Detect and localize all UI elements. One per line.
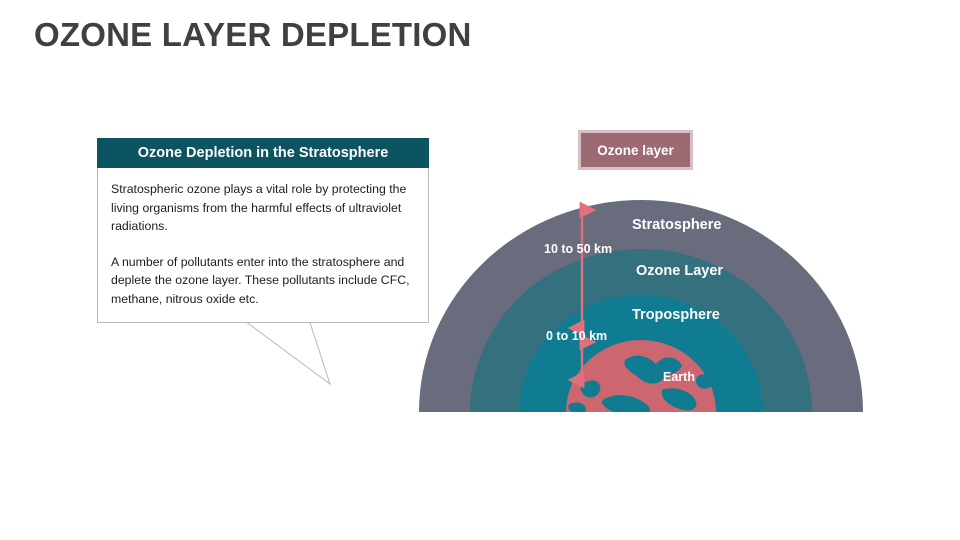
info-callout: Ozone Depletion in the Stratosphere Stra… — [97, 138, 429, 323]
page-title: OZONE LAYER DEPLETION — [34, 16, 472, 54]
label-stratosphere: Stratosphere — [632, 217, 721, 233]
label-0-to-10-km: 0 to 10 km — [546, 329, 607, 343]
slide-canvas: OZONE LAYER DEPLETION Ozone Depletion in… — [0, 0, 960, 540]
label-10-to-50-km: 10 to 50 km — [544, 242, 612, 256]
callout-header: Ozone Depletion in the Stratosphere — [97, 138, 429, 168]
label-troposphere: Troposphere — [632, 307, 720, 323]
ozone-layer-tag[interactable]: Ozone layer — [578, 130, 693, 170]
label-earth: Earth — [663, 370, 695, 384]
callout-paragraph-2: A number of pollutants enter into the st… — [111, 253, 415, 309]
callout-body: Stratospheric ozone plays a vital role b… — [97, 168, 429, 323]
atmosphere-diagram: Stratosphere Ozone Layer Troposphere Ear… — [410, 190, 880, 420]
ozone-layer-tag-label: Ozone layer — [597, 143, 674, 158]
label-ozone-layer: Ozone Layer — [636, 263, 723, 279]
callout-paragraph-1: Stratospheric ozone plays a vital role b… — [111, 180, 415, 236]
